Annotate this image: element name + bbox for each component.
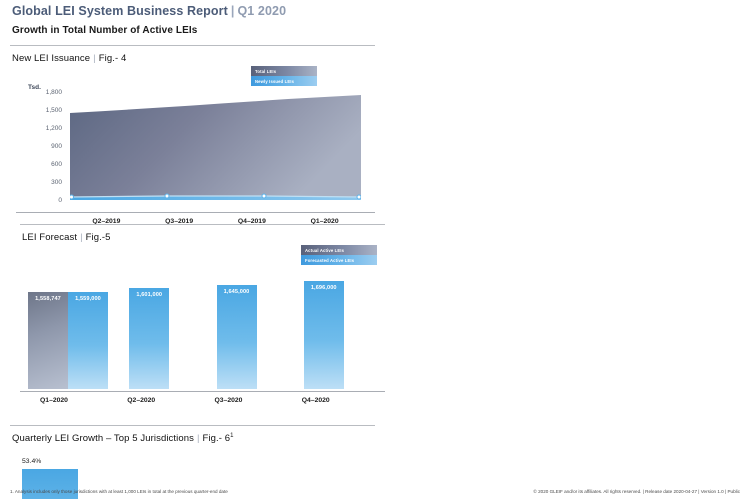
legend-item-newly-issued-leis: Newly Issued LEIs [251,76,317,86]
panel-lei-forecast: LEI Forecast|Fig.-5 Actual Active LEIs F… [20,224,385,403]
legend-item-actual-active-leis: Actual Active LEIs [301,245,377,255]
footnote-text: 1. Analysis includes only those jurisdic… [10,489,228,494]
report-page: Global LEI System Business Report|Q1 202… [0,0,750,499]
x-axis-line-fig5 [20,391,385,392]
x-tick-label: Q2–2020 [115,397,202,404]
fig4-separator: | [90,53,99,64]
area-series-svg [70,92,361,204]
document-header: Global LEI System Business Report|Q1 202… [10,0,740,36]
data-point-marker [357,195,361,199]
chart-fig4: Total LEIs Newly Issued LEIs Tsd. 1,800 … [10,64,375,224]
panel-divider [10,45,375,46]
bar-forecast-q1-2020[interactable]: 1,559,000 [68,292,108,389]
x-axis-line-fig4 [16,212,375,213]
x-tick-label: Q1–2020 [28,397,115,404]
x-tick-label: Q3–2020 [203,397,290,404]
x-tick-label: Q4–2020 [290,397,377,404]
panel-divider [20,224,385,225]
page-footer: 1. Analysis includes only those jurisdic… [10,489,740,494]
panel-title-fig5: LEI Forecast|Fig.-5 [22,232,385,243]
bar-value-label: 53.4% [22,458,41,465]
fig6-separator: | [194,433,203,444]
fig4-title-text: New LEI Issuance [12,53,90,64]
panel-title-fig4: New LEI Issuance|Fig.- 4 [12,53,375,64]
bar-value-label: 1,696,000 [304,285,344,291]
bar-forecast-q4-2020[interactable]: 1,696,000 [304,281,344,389]
y-tick: 1,800 [18,89,62,96]
panel-new-lei-issuance: New LEI Issuance|Fig.- 4 Total LEIs Newl… [10,45,375,224]
plot-area-fig5: 1,558,747 1,559,000 1,601,000 1,645, [28,257,377,389]
data-point-marker [70,195,74,199]
copyright-text: © 2020 GLEIF and/or its affiliates. All … [533,489,740,494]
report-quarter: Q1 2020 [237,4,286,18]
bar-china[interactable]: 53.4% [22,469,78,499]
y-tick: 0 [18,197,62,204]
y-tick: 600 [18,161,62,168]
bar-forecast-q3-2020[interactable]: 1,645,000 [217,285,257,389]
y-axis-ticks: 1,800 1,500 1,200 900 600 300 0 [18,92,62,204]
panel-title-fig6: Quarterly LEI Growth – Top 5 Jurisdictio… [12,433,375,444]
y-tick: 1,500 [18,107,62,114]
fig5-separator: | [77,232,86,243]
fig6-figure-number: Fig.- 6 [203,433,231,444]
x-axis-labels-fig5: Q1–2020 Q2–2020 Q3–2020 Q4–2020 [28,397,377,404]
bar-group-q1: 1,558,747 1,559,000 [28,257,115,389]
page-title: Global LEI System Business Report|Q1 202… [12,4,740,18]
panel-top-jurisdictions: Quarterly LEI Growth – Top 5 Jurisdictio… [10,425,375,499]
fig6-title-text: Quarterly LEI Growth – Top 5 Jurisdictio… [12,433,194,444]
legend-item-total-leis: Total LEIs [251,66,317,76]
fig5-figure-number: Fig.-5 [86,232,111,243]
charts-grid: New LEI Issuance|Fig.- 4 Total LEIs Newl… [10,45,740,499]
bar-actual-q1-2020[interactable]: 1,558,747 [28,292,68,389]
panel-divider [10,425,375,426]
y-tick: 300 [18,179,62,186]
bar-value-label: 1,558,747 [28,296,68,302]
y-tick: 900 [18,143,62,150]
fig6-footnote-marker: 1 [230,433,233,439]
bar-value-label: 1,601,000 [129,292,169,298]
bar-value-label: 1,559,000 [68,296,108,302]
fig4-figure-number: Fig.- 4 [99,53,127,64]
data-point-marker [262,194,266,198]
data-point-marker [165,194,169,198]
report-title-text: Global LEI System Business Report [12,4,228,18]
plot-area-fig4 [70,92,361,204]
legend-fig4: Total LEIs Newly Issued LEIs [251,66,317,86]
bar-forecast-q2-2020[interactable]: 1,601,000 [129,288,169,389]
y-tick: 1,200 [18,125,62,132]
chart-fig5: Actual Active LEIs Forecasted Active LEI… [20,243,385,403]
bar-group-q2: 1,601,000 [115,257,202,389]
bar-group-q4: 1,696,000 [290,257,377,389]
bar-group-q3: 1,645,000 [203,257,290,389]
total-leis-area [70,95,361,200]
fig5-title-text: LEI Forecast [22,232,77,243]
page-subtitle: Growth in Total Number of Active LEIs [12,25,740,36]
bar-value-label: 1,645,000 [217,289,257,295]
